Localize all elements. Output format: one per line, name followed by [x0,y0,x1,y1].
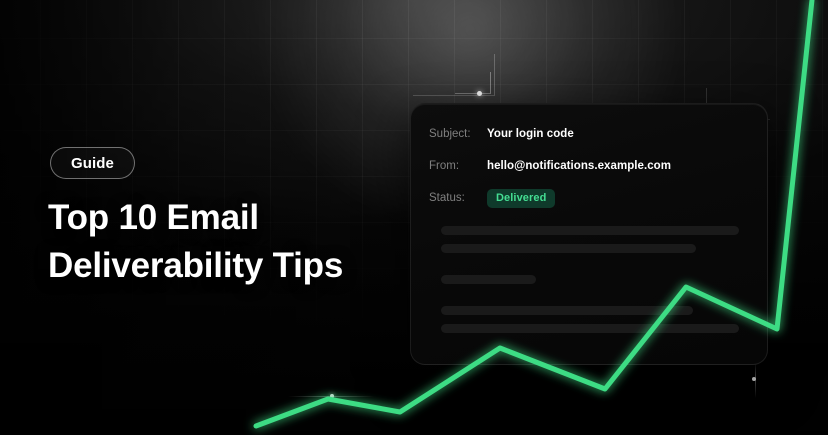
chart-line-series [256,0,812,426]
hero-banner: Guide Top 10 Email Deliverability Tips S… [0,0,828,435]
deliverability-line-chart [0,0,828,435]
